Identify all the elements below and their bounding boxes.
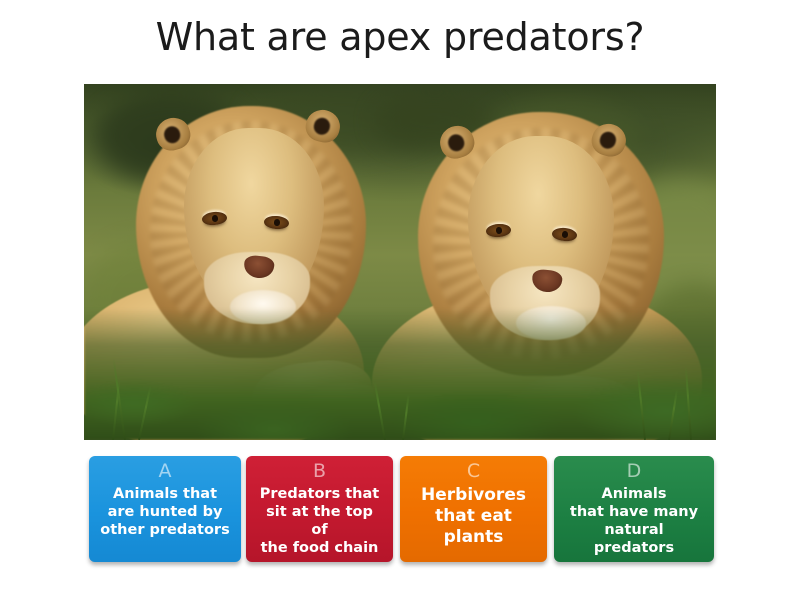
answer-letter-a: A	[95, 459, 235, 483]
answer-option-b[interactable]: B Predators thatsit at the top ofthe foo…	[246, 456, 393, 562]
lion-photo	[84, 84, 716, 440]
answer-options: A Animals thatare hunted byother predato…	[89, 456, 714, 562]
answer-option-a[interactable]: A Animals thatare hunted byother predato…	[89, 456, 241, 562]
answer-letter-b: B	[252, 459, 387, 483]
answer-text-d: Animalsthat have manynatural predators	[560, 483, 708, 557]
answer-text-b: Predators thatsit at the top ofthe food …	[252, 483, 387, 557]
answer-text-a: Animals thatare hunted byother predators	[95, 483, 235, 539]
answer-option-d[interactable]: D Animalsthat have manynatural predators	[554, 456, 714, 562]
answer-text-c: Herbivoresthat eat plants	[406, 483, 541, 548]
question-image	[84, 84, 716, 440]
answer-option-c[interactable]: C Herbivoresthat eat plants	[400, 456, 547, 562]
answer-letter-d: D	[560, 459, 708, 483]
answer-letter-c: C	[406, 459, 541, 483]
page-title: What are apex predators?	[0, 14, 800, 62]
foreground-grass	[84, 308, 716, 440]
